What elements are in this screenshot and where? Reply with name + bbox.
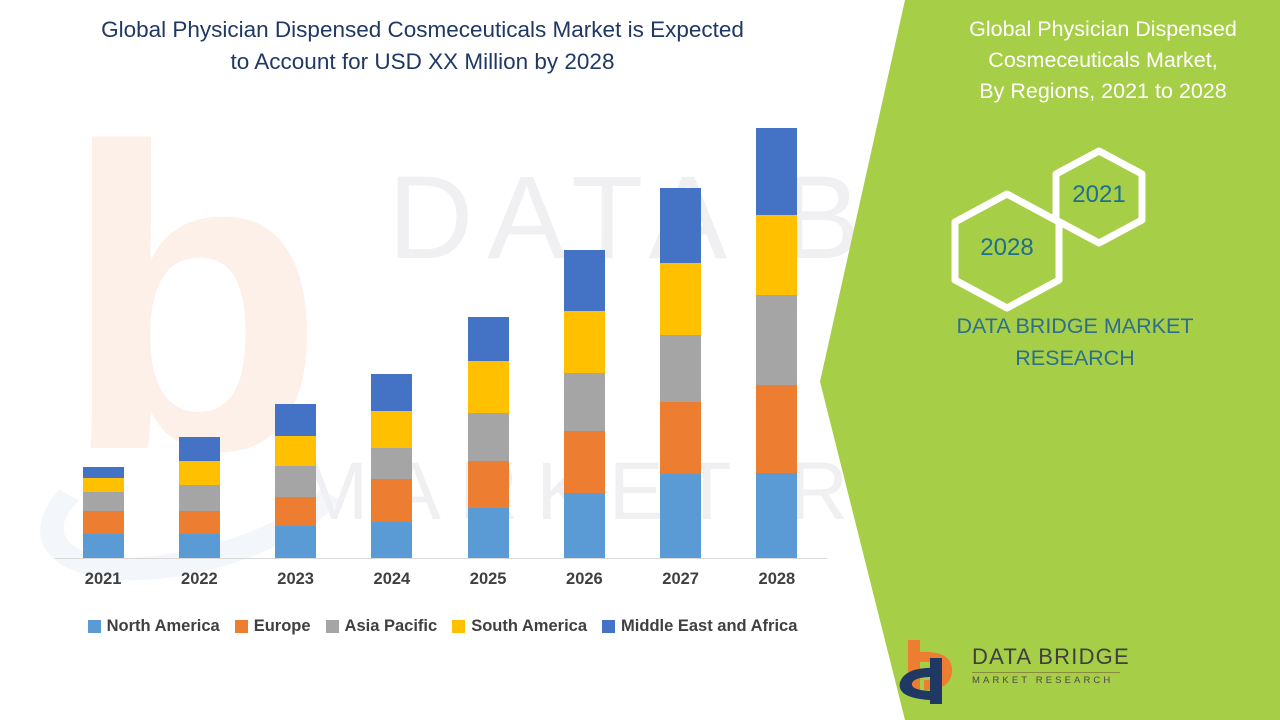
hexagon-start-year-label: 2021 — [1050, 181, 1148, 209]
x-axis-tick-label: 2023 — [248, 570, 344, 589]
x-axis-line — [55, 558, 827, 559]
bar-segment[interactable] — [468, 361, 509, 413]
bar-chart-plot-area — [55, 96, 825, 558]
bar-segment[interactable] — [468, 413, 509, 462]
bar-segment[interactable] — [371, 448, 412, 479]
company-logo: DATA BRIDGE MARKET RESEARCH — [890, 638, 1120, 708]
x-axis-tick-label: 2026 — [536, 570, 632, 589]
bar-group — [440, 96, 536, 558]
bar-segment[interactable] — [564, 493, 605, 558]
bar-segment[interactable] — [756, 295, 797, 385]
bar-segment[interactable] — [275, 404, 316, 435]
side-panel-content: Global Physician Dispensed Cosmeceutical… — [820, 0, 1280, 720]
bar-segment[interactable] — [660, 263, 701, 335]
hexagon-end-year-label: 2028 — [948, 234, 1066, 262]
bar-segment[interactable] — [564, 431, 605, 493]
x-axis-tick-label: 2027 — [633, 570, 729, 589]
bar-segment[interactable] — [275, 497, 316, 526]
bar-segment[interactable] — [564, 311, 605, 373]
x-axis-tick-label: 2028 — [729, 570, 825, 589]
x-axis-tick-label: 2025 — [440, 570, 536, 589]
bar-segment[interactable] — [756, 473, 797, 558]
brand-name: DATA BRIDGE MARKET RESEARCH — [875, 310, 1275, 374]
x-axis-tick-label: 2022 — [151, 570, 247, 589]
legend-label: Europe — [254, 617, 311, 636]
page-title-line-1: Global Physician Dispensed Cosmeceutical… — [40, 14, 805, 46]
legend-item[interactable]: South America — [452, 617, 587, 636]
stacked-bar[interactable] — [179, 437, 220, 558]
logo-sub-text: MARKET RESEARCH — [972, 675, 1122, 686]
legend-label: Middle East and Africa — [621, 617, 797, 636]
stacked-bar[interactable] — [660, 188, 701, 558]
bar-group — [633, 96, 729, 558]
bar-segment[interactable] — [660, 335, 701, 402]
side-panel-title-line-1: Global Physician Dispensed — [938, 14, 1268, 45]
bar-segment[interactable] — [83, 467, 124, 479]
logo-divider — [972, 672, 1120, 673]
chart-legend: North AmericaEuropeAsia PacificSouth Ame… — [55, 617, 830, 636]
side-panel: Global Physician Dispensed Cosmeceutical… — [820, 0, 1280, 720]
bar-group — [151, 96, 247, 558]
bar-segment[interactable] — [660, 402, 701, 474]
infographic-canvas: b DATA BRIDGE MARKET RESEARCH Global Phy… — [0, 0, 1280, 720]
bar-segment[interactable] — [660, 474, 701, 558]
bar-segment[interactable] — [179, 534, 220, 558]
bar-segment[interactable] — [371, 411, 412, 448]
bar-segment[interactable] — [756, 215, 797, 295]
bar-segment[interactable] — [371, 479, 412, 522]
stacked-bar[interactable] — [371, 374, 412, 558]
bar-segment[interactable] — [756, 385, 797, 473]
bar-segment[interactable] — [371, 374, 412, 411]
bar-segment[interactable] — [275, 436, 316, 466]
stacked-bar[interactable] — [756, 128, 797, 558]
page-title-line-2: to Account for USD XX Million by 2028 — [40, 46, 805, 78]
bar-segment[interactable] — [179, 485, 220, 510]
legend-item[interactable]: Asia Pacific — [326, 617, 438, 636]
legend-label: Asia Pacific — [345, 617, 438, 636]
bar-group — [536, 96, 632, 558]
bar-segment[interactable] — [275, 466, 316, 497]
legend-label: North America — [107, 617, 220, 636]
bar-segment[interactable] — [756, 128, 797, 215]
side-panel-title: Global Physician Dispensed Cosmeceutical… — [938, 14, 1268, 107]
legend-swatch — [452, 620, 465, 633]
stacked-bar[interactable] — [83, 467, 124, 558]
logo-wordmark: DATA BRIDGE MARKET RESEARCH — [972, 644, 1122, 686]
bar-group — [344, 96, 440, 558]
bar-segment[interactable] — [83, 511, 124, 534]
chart-panel: Global Physician Dispensed Cosmeceutical… — [0, 0, 905, 720]
x-axis-tick-label: 2024 — [344, 570, 440, 589]
brand-name-line-1: DATA BRIDGE MARKET — [875, 310, 1275, 342]
legend-swatch — [88, 620, 101, 633]
legend-swatch — [326, 620, 339, 633]
brand-name-line-2: RESEARCH — [875, 342, 1275, 374]
legend-item[interactable]: Middle East and Africa — [602, 617, 797, 636]
legend-item[interactable]: Europe — [235, 617, 311, 636]
legend-swatch — [235, 620, 248, 633]
bar-segment[interactable] — [468, 461, 509, 508]
legend-label: South America — [471, 617, 587, 636]
bar-group — [55, 96, 151, 558]
bar-segment[interactable] — [564, 250, 605, 311]
bar-segment[interactable] — [468, 317, 509, 361]
side-panel-title-line-2: Cosmeceuticals Market, — [938, 45, 1268, 76]
stacked-bar[interactable] — [275, 404, 316, 558]
logo-main-text: DATA BRIDGE — [972, 644, 1122, 670]
stacked-bar[interactable] — [564, 250, 605, 558]
bar-segment[interactable] — [83, 478, 124, 492]
hexagon-end-year: 2028 — [948, 190, 1066, 312]
bar-segment[interactable] — [179, 511, 220, 534]
databridge-b-swoosh-icon — [890, 638, 968, 706]
bar-segment[interactable] — [660, 188, 701, 263]
logo-mark-svg — [890, 638, 968, 706]
bar-segment[interactable] — [564, 373, 605, 431]
stacked-bar[interactable] — [468, 317, 509, 558]
bar-segment[interactable] — [371, 522, 412, 558]
bar-segment[interactable] — [179, 461, 220, 485]
year-range-hexagons: 2028 2021 — [928, 145, 1268, 290]
legend-swatch — [602, 620, 615, 633]
x-axis-labels: 20212022202320242025202620272028 — [55, 570, 825, 589]
bar-segment[interactable] — [275, 526, 316, 558]
bar-group — [729, 96, 825, 558]
bar-segment[interactable] — [179, 437, 220, 461]
bar-group — [248, 96, 344, 558]
legend-item[interactable]: North America — [88, 617, 220, 636]
side-panel-title-line-3: By Regions, 2021 to 2028 — [938, 76, 1268, 107]
x-axis-tick-label: 2021 — [55, 570, 151, 589]
hexagon-start-year: 2021 — [1050, 147, 1148, 247]
bar-segment[interactable] — [83, 534, 124, 558]
page-title: Global Physician Dispensed Cosmeceutical… — [40, 14, 805, 78]
bar-segment[interactable] — [468, 508, 509, 558]
bar-segment[interactable] — [83, 492, 124, 510]
